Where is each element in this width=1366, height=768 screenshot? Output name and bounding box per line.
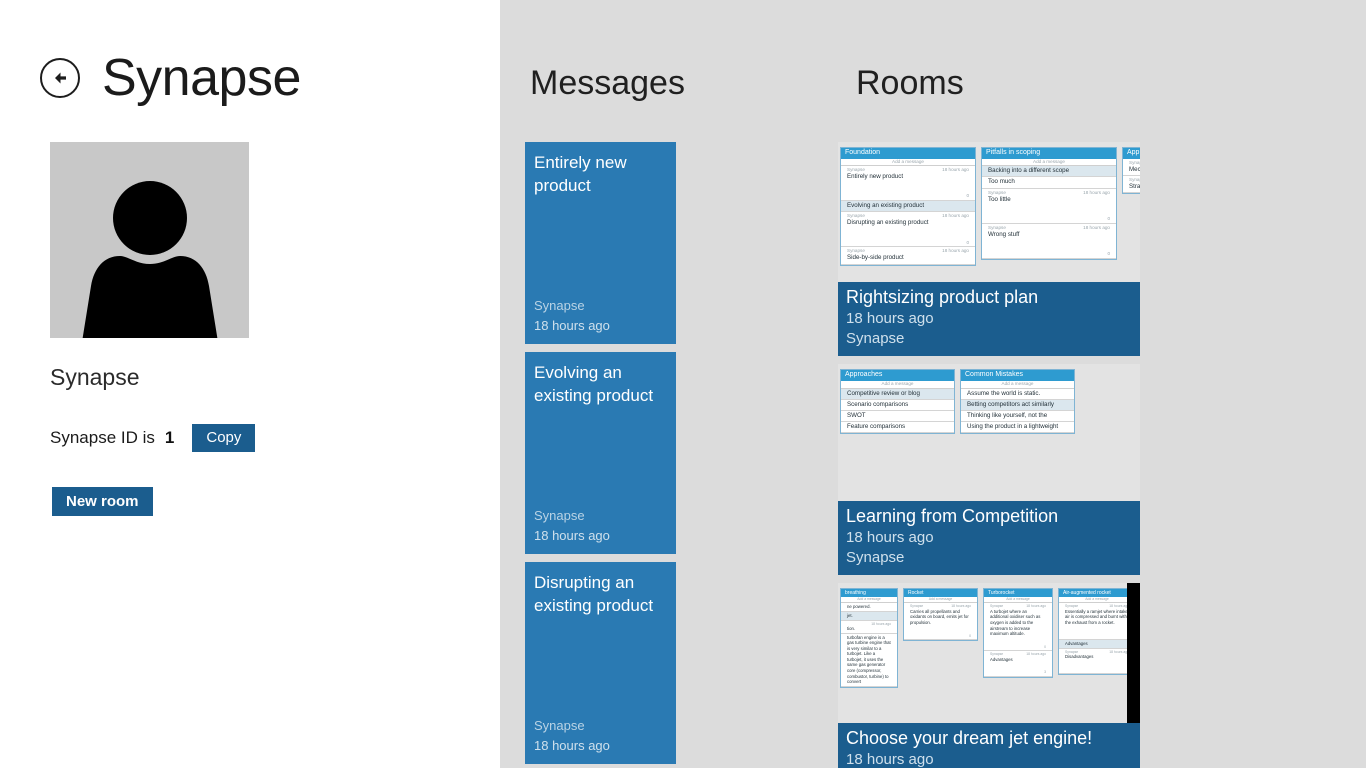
mini-message[interactable]: Synapse18 hours agoWrong stuff0 — [982, 224, 1116, 259]
mini-message-body: Disrupting an existing product — [844, 219, 972, 227]
mini-message[interactable]: Assume the world is static. — [961, 389, 1074, 400]
mini-message-body: tion. — [844, 626, 894, 632]
mini-add-message[interactable]: Add a message — [961, 381, 1074, 389]
new-room-button[interactable]: New room — [52, 487, 153, 516]
mini-message-body: Feature comparisons — [844, 423, 951, 431]
mini-message-time: 18 hours ago — [942, 167, 969, 173]
mini-message-count: 0 — [1062, 660, 1132, 672]
mini-message-body: Essentially a ramjet where intake air is… — [1062, 609, 1132, 626]
mini-column-header: App — [1123, 148, 1140, 159]
mini-message[interactable]: SynapsMech — [1123, 159, 1140, 176]
mini-message-count: 0 — [985, 204, 1113, 222]
room-title: Rightsizing product plan — [846, 287, 1132, 309]
mini-add-message[interactable]: Add a message — [841, 159, 975, 167]
mini-message-body: Mech — [1126, 166, 1140, 174]
mini-message-body: Advantages — [1062, 641, 1132, 647]
mini-message[interactable]: SynapsStrate — [1123, 176, 1140, 193]
content-panel: Messages Rooms Entirely new productSynap… — [500, 0, 1366, 768]
room-thumbnail: ApproachesAdd a messageCompetitive revie… — [838, 364, 1140, 501]
room-time: 18 hours ago — [846, 750, 1132, 768]
mini-message-author: Synapse — [988, 225, 1006, 231]
mini-message[interactable]: Advantages — [1059, 640, 1135, 649]
mini-message[interactable]: Competitive review or blog — [841, 389, 954, 400]
mini-message-count: 0 — [907, 626, 974, 638]
mini-message-body: Entirely new product — [844, 173, 972, 181]
person-silhouette-icon — [70, 168, 230, 338]
mini-column-header: Common Mistakes — [961, 370, 1074, 381]
mini-board: FoundationAdd a messageSynapse18 hours a… — [838, 142, 1140, 266]
synapse-id-label: Synapse ID is — [50, 428, 155, 448]
mini-message[interactable]: jet. — [841, 612, 897, 621]
mini-column: Pitfalls in scopingAdd a messageBacking … — [981, 147, 1117, 260]
room-author: Synapse — [846, 329, 1132, 349]
profile-panel: Synapse Synapse Synapse ID is 1 Copy New… — [0, 0, 500, 768]
message-title: Evolving an existing product — [534, 362, 668, 408]
mini-column: RocketAdd a messageSynapse18 hours agoCa… — [903, 588, 978, 641]
mini-message-body: jet. — [844, 613, 894, 619]
copy-button[interactable]: Copy — [192, 424, 255, 452]
room-time: 18 hours ago — [846, 528, 1132, 548]
mini-message[interactable]: Betting competitors act similarly — [961, 400, 1074, 411]
mini-message-body: Assume the world is static. — [964, 390, 1071, 398]
mini-message-count: 0 — [844, 228, 972, 246]
mini-column-header: Pitfalls in scoping — [982, 148, 1116, 159]
message-meta: Synapse18 hours ago — [534, 296, 668, 336]
profile-name: Synapse — [50, 364, 140, 391]
mini-message-time: 18 hours ago — [1083, 225, 1110, 231]
message-author: Synapse — [534, 506, 668, 526]
mini-column-header: Turborocket — [984, 589, 1052, 597]
message-author: Synapse — [534, 296, 668, 316]
messages-list: Entirely new productSynapse18 hours agoE… — [525, 142, 676, 768]
mini-message[interactable]: Synapse18 hours agoEntirely new product0 — [841, 166, 975, 201]
message-meta: Synapse18 hours ago — [534, 506, 668, 546]
mini-message-time: 18 hours ago — [942, 248, 969, 254]
room-tile[interactable]: ApproachesAdd a messageCompetitive revie… — [838, 364, 1140, 575]
thumbnail-edge-strip — [1127, 583, 1140, 723]
mini-message-count: 0 — [985, 239, 1113, 257]
room-title: Learning from Competition — [846, 506, 1132, 528]
message-time: 18 hours ago — [534, 316, 668, 336]
room-author: Synapse — [846, 548, 1132, 568]
mini-column-header: breathing — [841, 589, 897, 597]
room-caption: Rightsizing product plan18 hours agoSyna… — [838, 282, 1140, 356]
mini-message-author: Synaps — [1129, 160, 1140, 166]
room-caption: Learning from Competition18 hours agoSyn… — [838, 501, 1140, 575]
message-author: Synapse — [534, 716, 668, 736]
mini-message-body: Wrong stuff — [985, 231, 1113, 239]
mini-message-body: ne powered. — [844, 604, 894, 610]
mini-message[interactable]: SWOT — [841, 411, 954, 422]
mini-message[interactable]: Synapse18 hours agoEssentially a ramjet … — [1059, 603, 1135, 640]
mini-message[interactable]: Evolving an existing product — [841, 201, 975, 212]
message-tile[interactable]: Disrupting an existing productSynapse18 … — [525, 562, 676, 764]
mini-message-body: Too much — [985, 178, 1113, 186]
mini-message[interactable]: Synapse18 hours agoDisrupting an existin… — [841, 212, 975, 247]
mini-message-body: Too little — [985, 196, 1113, 204]
room-title: Choose your dream jet engine! — [846, 728, 1132, 750]
mini-column: FoundationAdd a messageSynapse18 hours a… — [840, 147, 976, 266]
app-root: Synapse Synapse Synapse ID is 1 Copy New… — [0, 0, 1366, 768]
room-caption: Choose your dream jet engine!18 hours ag… — [838, 723, 1140, 768]
room-thumbnail: FoundationAdd a messageSynapse18 hours a… — [838, 142, 1140, 282]
room-tile[interactable]: breathingAdd a messagene powered.jet.18 … — [838, 583, 1140, 768]
mini-add-message[interactable]: Add a message — [982, 159, 1116, 167]
mini-message-body: Scenario comparisons — [844, 401, 951, 409]
message-time: 18 hours ago — [534, 736, 668, 756]
message-tile[interactable]: Entirely new productSynapse18 hours ago — [525, 142, 676, 344]
mini-message-body: Carries all propellants and oxidants on … — [907, 609, 974, 626]
synapse-id-value: 1 — [165, 428, 174, 448]
messages-heading: Messages — [530, 66, 685, 100]
mini-message[interactable]: turbofan engine is a gas turbine engine … — [841, 634, 897, 687]
mini-add-message[interactable]: Add a message — [841, 381, 954, 389]
mini-message-author: Synaps — [1129, 177, 1140, 183]
back-button[interactable] — [40, 58, 80, 98]
mini-message-author: Synapse — [988, 190, 1006, 196]
mini-message-author: Synapse — [990, 652, 1003, 656]
mini-message-count: 0 — [1062, 626, 1132, 638]
synapse-id-row: Synapse ID is 1 Copy — [50, 424, 255, 452]
avatar — [50, 142, 249, 338]
mini-column-header: Rocket — [904, 589, 977, 597]
mini-message[interactable]: 18 hours agotion. — [841, 621, 897, 634]
mini-message-header: Synaps — [1126, 177, 1140, 183]
new-room-row: New room — [52, 487, 153, 516]
page-title: Synapse — [102, 52, 301, 104]
mini-message-body: turbofan engine is a gas turbine engine … — [844, 635, 894, 685]
mini-message[interactable]: Thinking like yourself, not the — [961, 411, 1074, 422]
mini-message[interactable]: Synapse18 hours agoDisadvantages0 — [1059, 649, 1135, 674]
mini-column: TurborocketAdd a messageSynapse18 hours … — [983, 588, 1053, 677]
mini-message[interactable]: Using the product in a lightweight — [961, 422, 1074, 433]
mini-message[interactable]: Feature comparisons — [841, 422, 954, 433]
mini-column-header: Approaches — [841, 370, 954, 381]
message-title: Entirely new product — [534, 152, 668, 198]
mini-message[interactable]: Backing into a different scope — [982, 166, 1116, 177]
mini-message-time: 18 hours ago — [871, 622, 891, 626]
message-tile[interactable]: Evolving an existing productSynapse18 ho… — [525, 352, 676, 554]
mini-message-body: Side-by-side product — [844, 254, 972, 262]
mini-column: breathingAdd a messagene powered.jet.18 … — [840, 588, 898, 688]
mini-message[interactable]: Synapse18 hours agoToo little0 — [982, 189, 1116, 224]
mini-message-body: Using the product in a lightweight — [964, 423, 1071, 431]
mini-column: Common MistakesAdd a messageAssume the w… — [960, 369, 1075, 434]
mini-column: AppSynapsMechSynapsStrate — [1122, 147, 1140, 194]
mini-column-header: Air-augmented rocket — [1059, 589, 1135, 597]
mini-message-body: Competitive review or blog — [844, 390, 951, 398]
mini-message-body: A turbojet where an additional oxidiser … — [987, 609, 1049, 637]
rooms-heading: Rooms — [856, 66, 964, 100]
mini-message[interactable]: Synapse18 hours agoA turbojet where an a… — [984, 603, 1052, 651]
mini-board: ApproachesAdd a messageCompetitive revie… — [838, 364, 1140, 434]
mini-message-count: 0 — [987, 637, 1049, 649]
room-tile[interactable]: FoundationAdd a messageSynapse18 hours a… — [838, 142, 1140, 356]
mini-message-body: Betting competitors act similarly — [964, 401, 1071, 409]
mini-message-time: 18 hours ago — [1026, 652, 1046, 656]
message-title: Disrupting an existing product — [534, 572, 668, 618]
message-meta: Synapse18 hours ago — [534, 716, 668, 756]
mini-message[interactable]: Scenario comparisons — [841, 400, 954, 411]
mini-message-body: SWOT — [844, 412, 951, 420]
page-header: Synapse — [40, 52, 301, 104]
mini-message[interactable]: ne powered. — [841, 603, 897, 612]
mini-message-header: Synaps — [1126, 160, 1140, 166]
mini-message-time: 18 hours ago — [1026, 604, 1046, 608]
mini-message-count: 3 — [987, 662, 1049, 674]
room-time: 18 hours ago — [846, 309, 1132, 329]
back-arrow-icon — [50, 68, 70, 88]
mini-column: ApproachesAdd a messageCompetitive revie… — [840, 369, 955, 434]
mini-message[interactable]: Synapse18 hours agoAdvantages3 — [984, 651, 1052, 676]
mini-board: breathingAdd a messagene powered.jet.18 … — [838, 583, 1140, 688]
mini-message-body: Evolving an existing product — [844, 202, 972, 210]
message-time: 18 hours ago — [534, 526, 668, 546]
mini-message[interactable]: Synapse18 hours agoCarries all propellan… — [904, 603, 977, 640]
mini-column-header: Foundation — [841, 148, 975, 159]
rooms-list: FoundationAdd a messageSynapse18 hours a… — [838, 142, 1140, 768]
mini-message-body: Strate — [1126, 183, 1140, 191]
room-thumbnail: breathingAdd a messagene powered.jet.18 … — [838, 583, 1140, 723]
mini-message-count: 0 — [844, 181, 972, 199]
mini-message-time: 18 hours ago — [942, 213, 969, 219]
mini-message-body: Thinking like yourself, not the — [964, 412, 1071, 420]
mini-message-time: 18 hours ago — [1083, 190, 1110, 196]
mini-message[interactable]: Too much — [982, 177, 1116, 188]
mini-message-body: Backing into a different scope — [985, 167, 1113, 175]
mini-column: Air-augmented rocketAdd a messageSynapse… — [1058, 588, 1136, 675]
mini-message[interactable]: Synapse18 hours agoSide-by-side product — [841, 247, 975, 264]
